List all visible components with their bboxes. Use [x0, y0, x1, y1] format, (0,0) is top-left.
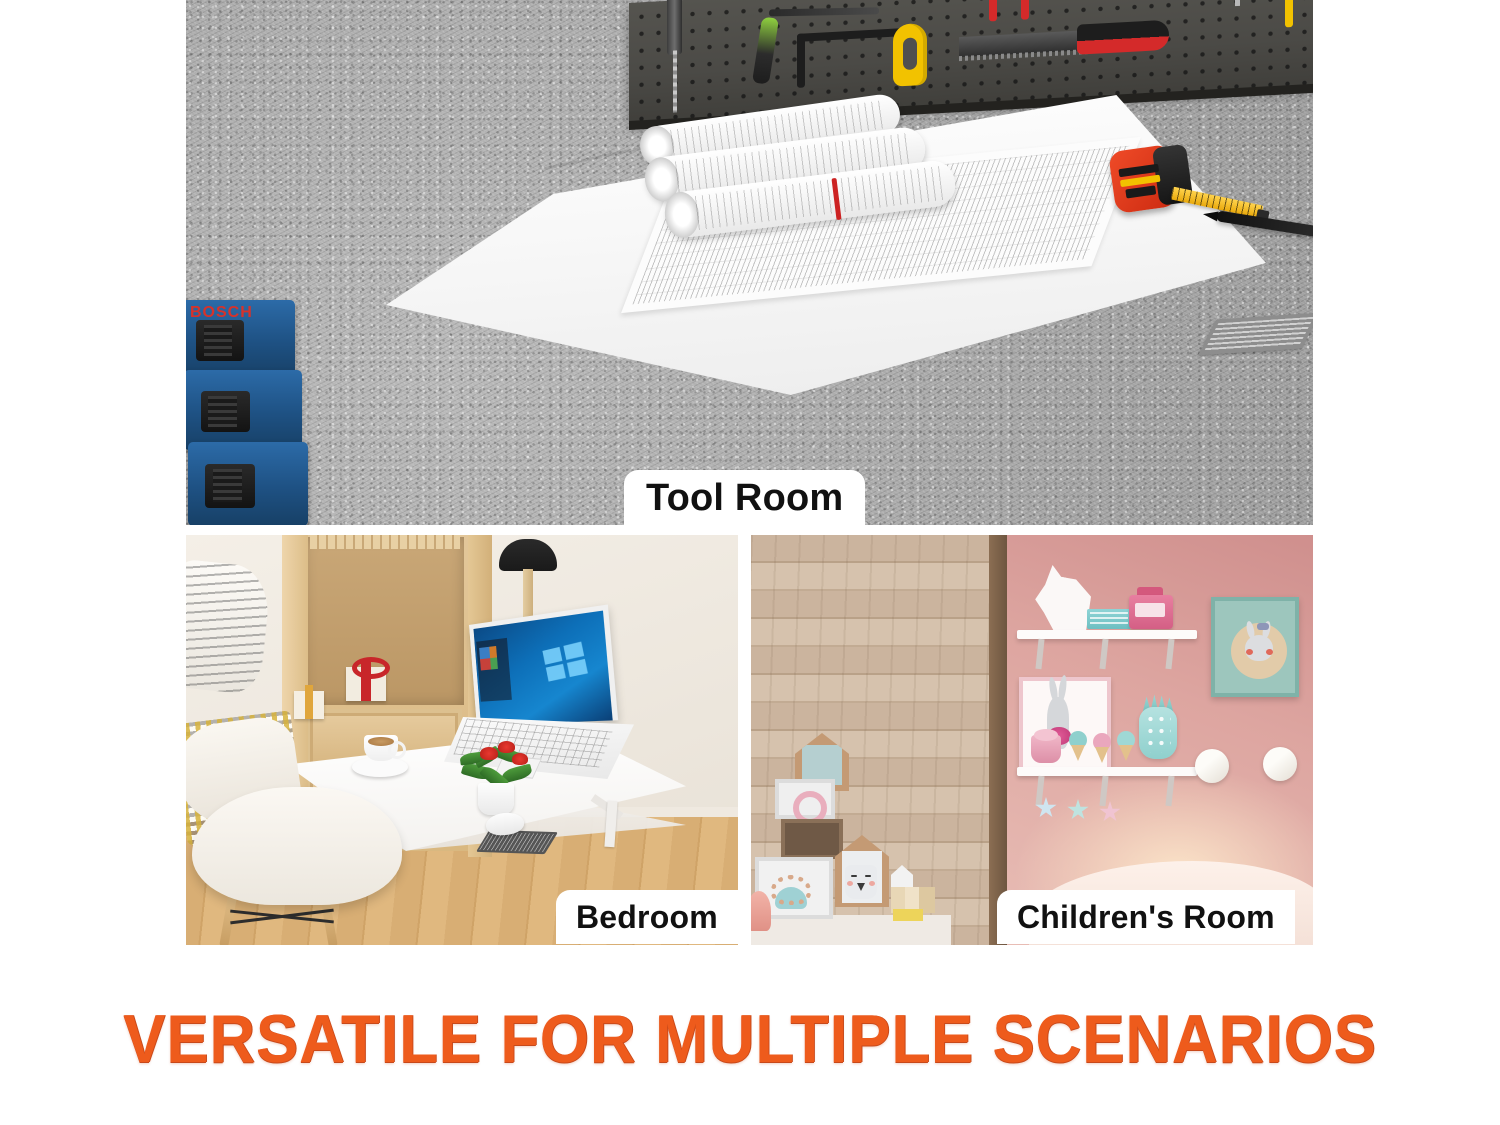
red-screwdriver-icon	[1021, 0, 1029, 20]
caption-bedroom: Bedroom	[556, 890, 738, 944]
ice-cream-toy	[1069, 731, 1087, 761]
bosch-tool-case	[188, 442, 308, 525]
bosch-logo: BOSCH	[190, 304, 253, 322]
wall-sconce	[1195, 749, 1229, 783]
yellow-screwdriver-icon	[1285, 0, 1293, 27]
plant-pot	[478, 783, 514, 815]
yarn-basket	[1031, 735, 1061, 763]
tool-bar-icon	[769, 7, 879, 16]
pink-radio	[1129, 595, 1173, 629]
bunny-poster	[1211, 597, 1299, 697]
coffee-cup	[364, 735, 398, 761]
headline: VERSATILE FOR MULTIPLE SCENARIOS	[53, 1000, 1448, 1078]
panel-tool-room: BOSCH	[186, 0, 1313, 525]
decorative-books	[1087, 609, 1131, 629]
drill-icon	[667, 0, 682, 55]
gift-box	[346, 667, 386, 701]
cross-wrench-icon	[1209, 0, 1269, 8]
wall-shelf	[1017, 767, 1197, 776]
yellow-hacksaw-icon	[797, 27, 927, 90]
red-screwdriver-icon	[989, 0, 997, 21]
pink-toy	[751, 891, 771, 931]
product-lifestyle-collage: BOSCH	[0, 0, 1500, 1125]
black-red-saw-icon	[959, 20, 1169, 63]
chair-seat	[192, 787, 402, 905]
wall-sconce	[1263, 747, 1297, 781]
toy-shelf-box	[781, 819, 843, 859]
bunny-storage-jar	[845, 865, 877, 899]
caption-tool-room: Tool Room	[624, 470, 865, 526]
bosch-tool-case	[186, 370, 302, 450]
toy-shelf-box	[775, 779, 835, 819]
mousepad	[476, 830, 558, 854]
caption-childrens-room: Children's Room	[997, 890, 1295, 944]
gift-box	[294, 691, 324, 719]
laptop-screen	[469, 604, 618, 725]
green-handle-tool-icon	[752, 17, 779, 84]
bead-garland	[771, 875, 811, 905]
pineapple-lamp	[1139, 707, 1177, 759]
tape-measure	[1108, 144, 1178, 214]
panel-childrens-room	[751, 535, 1313, 945]
wood-wall-edge	[989, 535, 1007, 945]
yellow-toy-block	[893, 909, 923, 921]
panel-bedroom	[186, 535, 738, 945]
drill-bit-icon	[673, 50, 677, 112]
bunk-bed-rail	[310, 535, 460, 549]
wall-shelf	[1017, 630, 1197, 639]
ice-cream-toy	[1117, 731, 1135, 761]
ice-cream-toy	[1093, 733, 1111, 763]
